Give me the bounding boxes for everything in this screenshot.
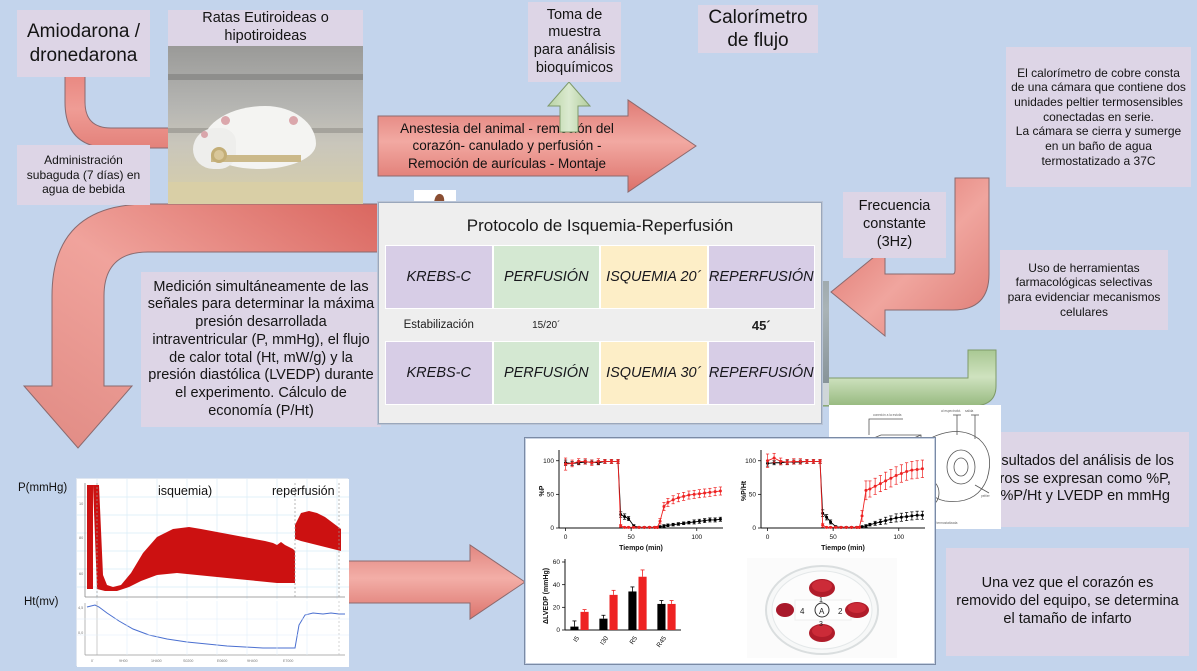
pharmacology-box: Uso de herramientas farmacológicas selec… (1000, 250, 1168, 330)
trace-label-pressure: P(mmHg) (18, 482, 80, 494)
svg-text:50: 50 (628, 534, 636, 541)
svg-text:R5: R5 (629, 635, 640, 646)
svg-text:0: 0 (766, 534, 770, 541)
svg-text:0: 0 (752, 525, 756, 532)
svg-text:4,5: 4,5 (78, 606, 83, 610)
svg-text:50: 50 (830, 534, 838, 541)
svg-text:ΔLVEDP (mmHg): ΔLVEDP (mmHg) (543, 568, 550, 624)
svg-text:R45: R45 (656, 635, 669, 649)
protocol-cell: REPERFUSIÓN (708, 341, 816, 405)
svg-text:100: 100 (691, 534, 702, 541)
svg-text:0: 0 (550, 525, 554, 532)
protocol-row-middle: Estabilización 15/20´ 45´ (385, 309, 815, 341)
svg-text:1H400: 1H400 (151, 659, 162, 663)
svg-text:1: 1 (819, 597, 823, 604)
frequency-box: Frecuencia constante (3Hz) (843, 192, 946, 258)
calorimeter-text-box: El calorímetro de cobre consta de una cá… (1006, 47, 1191, 187)
svg-text:0,0: 0,0 (78, 631, 83, 635)
svg-text:100: 100 (893, 534, 904, 541)
protocol-row-1: KREBS-C PERFUSIÓN ISQUEMIA 20´ REPERFUSI… (385, 245, 815, 309)
protocol-table: Protocolo de Isquemia-Reperfusión KREBS-… (378, 202, 822, 424)
protocol-cell: PERFUSIÓN (493, 341, 601, 405)
svg-text:3: 3 (819, 621, 823, 628)
drug-box: Amiodarona / dronedarona (17, 10, 150, 77)
svg-text:E0600: E0600 (217, 659, 227, 663)
infarct-box: Una vez que el corazón es removido del e… (946, 548, 1189, 656)
svg-text:60: 60 (79, 572, 83, 576)
svg-text:0: 0 (556, 627, 560, 634)
protocol-title: Protocolo de Isquemia-Reperfusión (385, 209, 815, 245)
svg-text:E7000: E7000 (283, 659, 293, 663)
svg-text:0´: 0´ (91, 659, 94, 663)
measurement-box: Medición simultáneamente de las señales … (141, 272, 381, 427)
calorimeter-caption-box: Calorímetro de flujo (698, 5, 818, 53)
sample-box: Toma de muestra para análisis bioquímico… (528, 2, 621, 82)
rat-photo (168, 46, 363, 204)
svg-text:60: 60 (553, 559, 561, 566)
svg-text:50: 50 (749, 492, 757, 499)
protocol-mid-cell: 45´ (708, 318, 816, 333)
svg-text:al espectrofot.: al espectrofot. (941, 409, 961, 413)
diagram-canvas: Anestesia del animal - remoción del cora… (0, 0, 1197, 671)
arrow-surgery-label: Anestesia del animal - remoción del cora… (382, 112, 632, 180)
svg-text:%P/Ht: %P/Ht (741, 480, 748, 501)
administration-box: Administración subaguda (7 días) en agua… (17, 145, 150, 205)
svg-text:40: 40 (553, 582, 561, 589)
svg-text:peltier: peltier (981, 494, 991, 498)
svg-text:10: 10 (79, 502, 83, 506)
protocol-row-2: KREBS-C PERFUSIÓN ISQUEMIA 30´ REPERFUSI… (385, 341, 815, 405)
svg-text:100: 100 (543, 458, 554, 465)
svg-text:4: 4 (800, 607, 805, 616)
svg-text:20: 20 (553, 605, 561, 612)
protocol-cell: ISQUEMIA 30´ (600, 341, 708, 405)
svg-text:conexión a la estufa: conexión a la estufa (873, 413, 902, 417)
svg-text:Tiempo (min): Tiempo (min) (619, 545, 663, 552)
svg-text:80: 80 (79, 536, 83, 540)
protocol-cell: ISQUEMIA 20´ (600, 245, 708, 309)
trace-label-heat: Ht(mv) (24, 596, 80, 608)
arrow-sample-up (546, 82, 592, 132)
svg-text:S0200: S0200 (183, 659, 193, 663)
svg-text:50: 50 (547, 492, 555, 499)
trace-phase-reperfusion: reperfusión (272, 484, 335, 498)
chart-percent-P: 050100050100Tiempo (min)%P (531, 442, 727, 554)
trace-phase-ischemia: isquemia) (158, 484, 212, 498)
protocol-mid-cell: 15/20´ (493, 320, 601, 331)
protocol-mid-cell: Estabilización (385, 319, 493, 331)
results-panel: 050100050100Tiempo (min)%P 050100050100T… (524, 437, 936, 665)
protocol-cell: KREBS-C (385, 341, 493, 405)
svg-text:%P: %P (539, 485, 546, 496)
svg-text:9H00: 9H00 (119, 659, 128, 663)
svg-text:I5: I5 (572, 635, 581, 644)
svg-text:0: 0 (564, 534, 568, 541)
signal-trace-panel: P(mmHg) Ht(mv) (18, 478, 348, 666)
protocol-cell: PERFUSIÓN (493, 245, 601, 309)
svg-text:Tiempo (min): Tiempo (min) (821, 545, 865, 552)
rats-caption-box: Ratas Eutiroideas o hipotiroideas (168, 10, 363, 46)
chart-percent-P-Ht: 050100050100Tiempo (min)%P/Ht (733, 442, 929, 554)
protocol-cell: REPERFUSIÓN (708, 245, 816, 309)
petri-dish-photo: A 1 3 2 4 (747, 558, 897, 658)
arrow-analisis-label (358, 561, 478, 603)
chart-delta-LVEDP: 0204060ΔLVEDP (mmHg)I5I30R5R45 (531, 552, 731, 662)
svg-text:salida: salida (965, 409, 974, 413)
svg-text:100: 100 (745, 458, 756, 465)
svg-text:I30: I30 (599, 635, 610, 647)
svg-text:2: 2 (838, 607, 843, 616)
svg-text:A: A (819, 607, 825, 616)
svg-text:9H400: 9H400 (247, 659, 258, 663)
protocol-cell: KREBS-C (385, 245, 493, 309)
